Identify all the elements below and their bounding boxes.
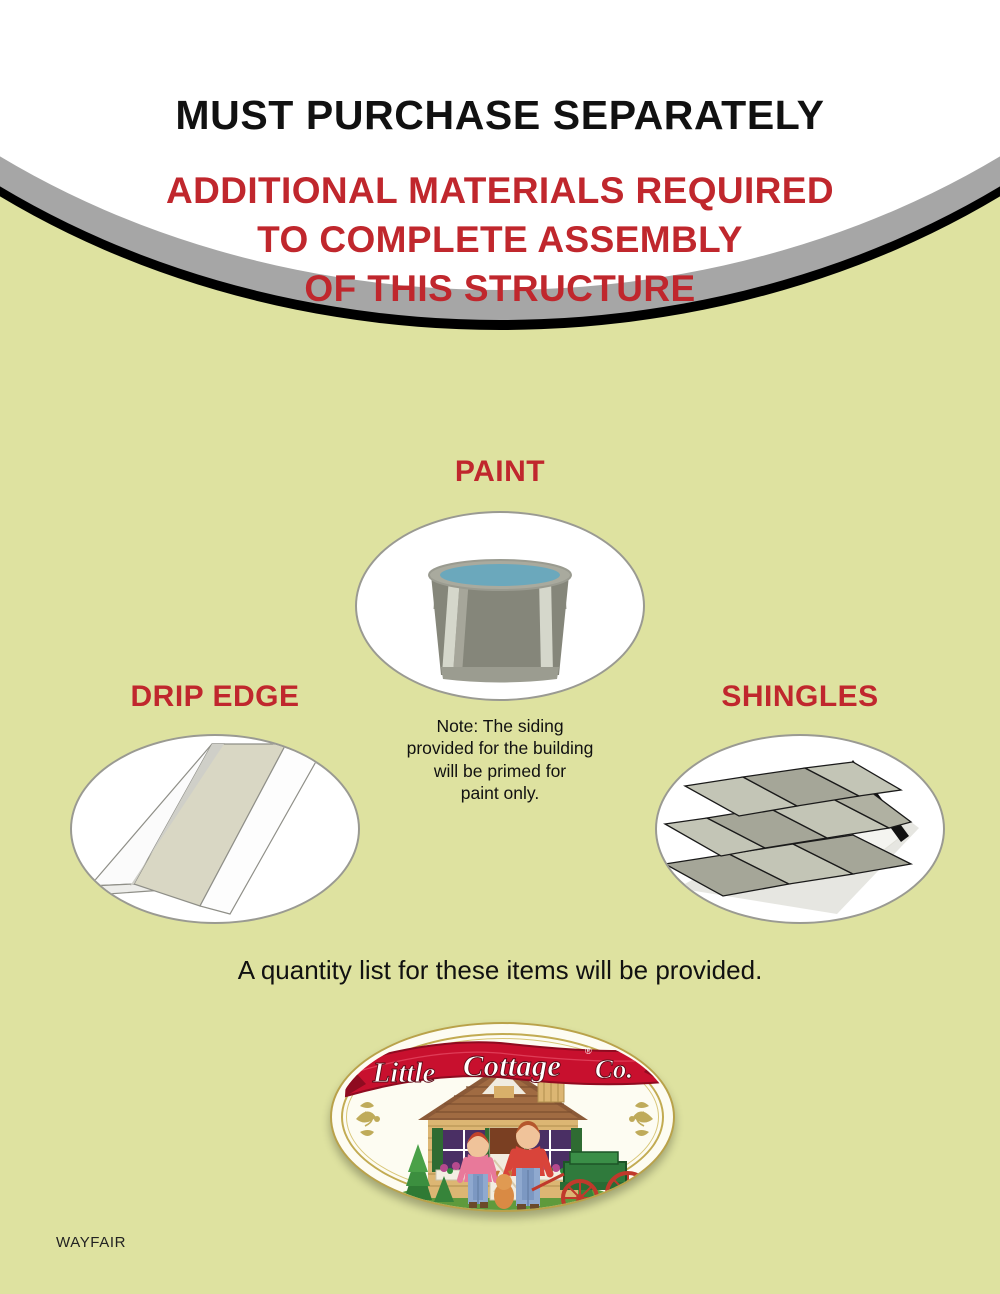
drip-edge-icon xyxy=(72,736,358,922)
little-cottage-co-logo: Little Cottage Co. ® xyxy=(330,1022,675,1212)
item-label-drip-edge: DRIP EDGE xyxy=(45,680,385,714)
drip-edge-illustration-oval xyxy=(70,734,360,924)
item-label-shingles: SHINGLES xyxy=(635,680,965,714)
header-text-block: MUST PURCHASE SEPARATELY ADDITIONAL MATE… xyxy=(0,0,1000,314)
header-subtitle-line-3: OF THIS STRUCTURE xyxy=(304,268,695,309)
paint-note-line-1: Note: The siding xyxy=(436,716,563,736)
logo-word-co: Co. xyxy=(595,1054,633,1084)
item-label-paint: PAINT xyxy=(330,455,670,489)
shingles-illustration-oval xyxy=(655,734,945,924)
header-subtitle: ADDITIONAL MATERIALS REQUIRED TO COMPLET… xyxy=(0,137,1000,313)
paint-note-line-3: will be primed for xyxy=(434,761,566,781)
logo-artwork: Little Cottage Co. ® xyxy=(332,1024,675,1212)
logo-flourish-left xyxy=(356,1102,380,1136)
wayfair-watermark: WAYFAIR xyxy=(56,1234,126,1251)
logo-flourish-right xyxy=(629,1102,653,1136)
paint-illustration-oval xyxy=(355,511,645,701)
paint-note-line-4: paint only. xyxy=(461,783,539,803)
logo-word-little: Little xyxy=(372,1057,436,1089)
logo-registered-mark: ® xyxy=(585,1046,592,1056)
quantity-note: A quantity list for these items will be … xyxy=(0,955,1000,986)
shingles-icon xyxy=(657,736,943,922)
header-subtitle-line-2: TO COMPLETE ASSEMBLY xyxy=(257,219,743,260)
page-title: MUST PURCHASE SEPARATELY xyxy=(0,0,1000,137)
poster-page: MUST PURCHASE SEPARATELY ADDITIONAL MATE… xyxy=(0,0,1000,1294)
header-subtitle-line-1: ADDITIONAL MATERIALS REQUIRED xyxy=(166,170,834,211)
item-drip-edge: DRIP EDGE xyxy=(45,680,385,924)
logo-word-cottage: Cottage xyxy=(463,1048,561,1083)
item-shingles: SHINGLES xyxy=(635,680,965,924)
paint-bucket-icon xyxy=(357,513,643,699)
logo-oval-frame: Little Cottage Co. ® xyxy=(330,1022,675,1212)
paint-note-line-2: provided for the building xyxy=(407,738,594,758)
logo-tree xyxy=(404,1144,432,1200)
header-curve-banner: MUST PURCHASE SEPARATELY ADDITIONAL MATE… xyxy=(0,0,1000,440)
logo-dog xyxy=(494,1171,514,1209)
